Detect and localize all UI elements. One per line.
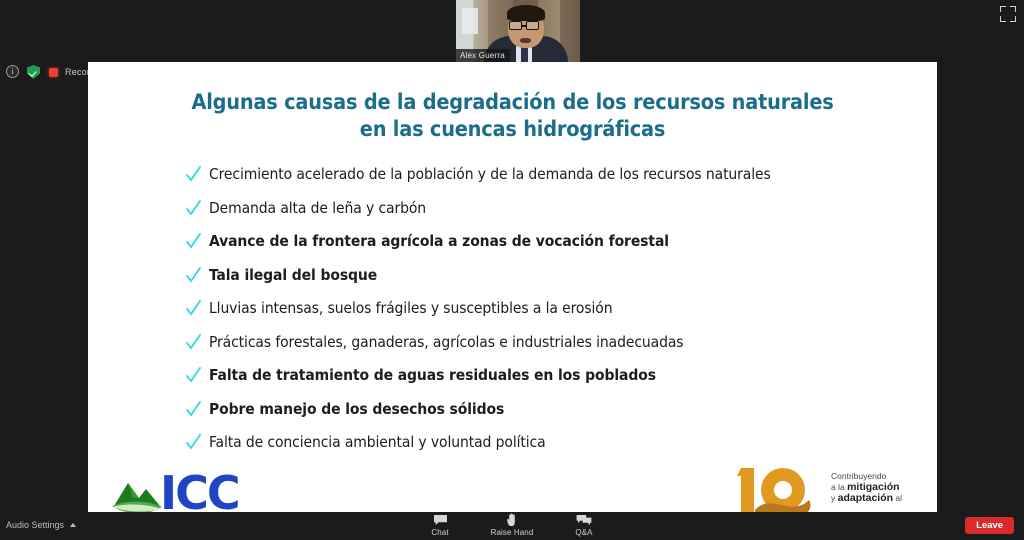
video-person-glasses-left bbox=[509, 21, 522, 30]
green-shield-check-icon[interactable] bbox=[27, 65, 41, 79]
list-item: Lluvias intensas, suelos frágiles y susc… bbox=[186, 299, 903, 318]
video-person-mouth bbox=[520, 38, 531, 43]
list-item-label: Tala ilegal del bosque bbox=[209, 266, 377, 285]
tagline-line-3-suffix: al bbox=[893, 493, 902, 503]
tagline-line-2-prefix: a la bbox=[831, 482, 847, 492]
list-item: Falta de conciencia ambiental y voluntad… bbox=[186, 433, 903, 452]
tagline-line-3: y adaptación al bbox=[831, 493, 927, 504]
checkmark-icon bbox=[186, 166, 201, 184]
anniversary-10-icon bbox=[735, 466, 827, 512]
meeting-toolbar: Audio Settings Chat Raise Hand Q&A bbox=[0, 512, 1024, 540]
icc-logo-text: ICC bbox=[160, 470, 239, 512]
slide-title-line-2: en las cuencas hidrográficas bbox=[88, 116, 937, 143]
list-item: Demanda alta de leña y carbón bbox=[186, 199, 903, 218]
raise-hand-button[interactable]: Raise Hand bbox=[490, 513, 534, 537]
qa-button[interactable]: Q&A bbox=[562, 513, 606, 537]
leave-button[interactable]: Leave bbox=[965, 517, 1014, 534]
list-item: Falta de tratamiento de aguas residuales… bbox=[186, 366, 903, 385]
participant-name-label: Alex Guerra bbox=[456, 49, 510, 62]
video-person-tie bbox=[521, 46, 528, 62]
video-whiteboard bbox=[462, 8, 478, 34]
icc-logo: ICC bbox=[112, 468, 292, 512]
fullscreen-expand-icon[interactable] bbox=[1000, 6, 1016, 22]
checkmark-icon bbox=[186, 334, 201, 352]
list-item-label: Lluvias intensas, suelos frágiles y susc… bbox=[209, 299, 612, 318]
list-item-label: Falta de conciencia ambiental y voluntad… bbox=[209, 433, 546, 452]
shared-slide: Algunas causas de la degradación de los … bbox=[88, 62, 937, 512]
recording-dot-icon bbox=[49, 68, 58, 77]
checkmark-icon bbox=[186, 267, 201, 285]
checkmark-icon bbox=[186, 367, 201, 385]
chat-button[interactable]: Chat bbox=[418, 513, 462, 537]
list-item-label: Prácticas forestales, ganaderas, agrícol… bbox=[209, 333, 683, 352]
anniversary-logo: Contribuyendo a la mitigación y adaptaci… bbox=[735, 466, 925, 512]
raise-hand-icon bbox=[506, 513, 519, 527]
list-item: Prácticas forestales, ganaderas, agrícol… bbox=[186, 333, 903, 352]
checkmark-icon bbox=[186, 300, 201, 318]
list-item-label: Falta de tratamiento de aguas residuales… bbox=[209, 366, 656, 385]
raise-hand-label: Raise Hand bbox=[491, 528, 534, 537]
presenter-video-tile[interactable]: Alex Guerra bbox=[456, 0, 580, 62]
checkmark-icon bbox=[186, 200, 201, 218]
list-item-label: Pobre manejo de los desechos sólidos bbox=[209, 400, 504, 419]
list-item: Crecimiento acelerado de la población y … bbox=[186, 165, 903, 184]
video-person-glasses-bridge bbox=[522, 25, 526, 27]
toolbar-actions: Chat Raise Hand Q&A bbox=[418, 513, 606, 537]
audio-settings-label: Audio Settings bbox=[6, 520, 64, 530]
list-item: Tala ilegal del bosque bbox=[186, 266, 903, 285]
video-person-glasses-right bbox=[526, 21, 539, 30]
checkmark-icon bbox=[186, 233, 201, 251]
qa-label: Q&A bbox=[575, 528, 592, 537]
list-item: Avance de la frontera agrícola a zonas d… bbox=[186, 232, 903, 251]
list-item: Pobre manejo de los desechos sólidos bbox=[186, 400, 903, 419]
list-item-label: Demanda alta de leña y carbón bbox=[209, 199, 426, 218]
checkmark-icon bbox=[186, 401, 201, 419]
chevron-up-icon[interactable] bbox=[70, 523, 76, 527]
video-person-hair bbox=[507, 5, 545, 21]
list-item-label: Crecimiento acelerado de la población y … bbox=[209, 165, 771, 184]
tagline-line-3-strong: adaptación bbox=[838, 492, 893, 504]
slide-title-line-1: Algunas causas de la degradación de los … bbox=[88, 89, 937, 116]
list-item-label: Avance de la frontera agrícola a zonas d… bbox=[209, 232, 669, 251]
slide-bullet-list: Crecimiento acelerado de la población y … bbox=[88, 165, 937, 452]
zoom-webinar-window: Alex Guerra i Recording Algunas causas d… bbox=[0, 0, 1024, 540]
chat-bubble-icon bbox=[433, 513, 448, 527]
icc-mountain-leaf-icon bbox=[112, 476, 164, 512]
tagline-line-3-prefix: y bbox=[831, 493, 838, 503]
info-circle-icon[interactable]: i bbox=[6, 65, 20, 79]
slide-title: Algunas causas de la degradación de los … bbox=[88, 62, 937, 143]
anniversary-tagline: Contribuyendo a la mitigación y adaptaci… bbox=[831, 471, 927, 504]
checkmark-icon bbox=[186, 434, 201, 452]
audio-settings-button[interactable]: Audio Settings bbox=[6, 520, 76, 530]
chat-label: Chat bbox=[431, 528, 448, 537]
qa-bubbles-icon bbox=[576, 513, 592, 527]
